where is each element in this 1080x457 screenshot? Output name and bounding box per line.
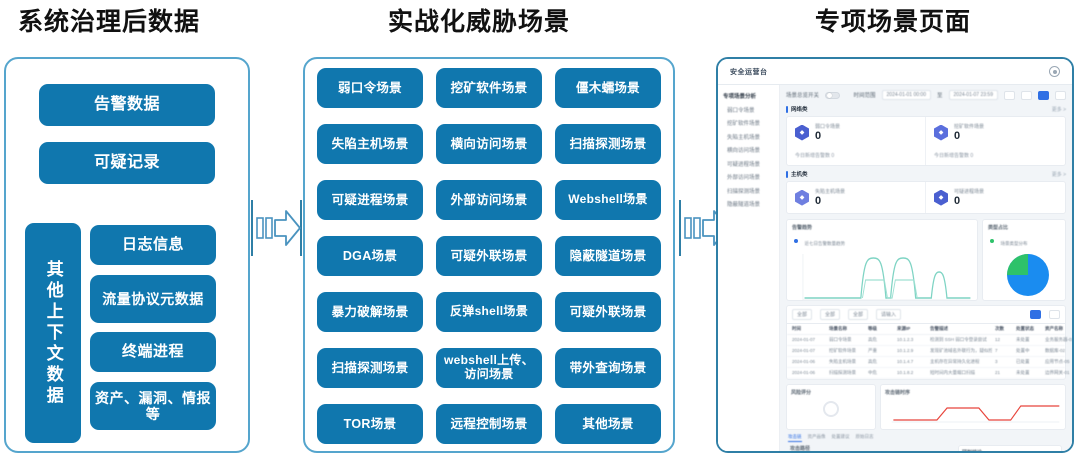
cell-count: 7 <box>995 348 1013 354</box>
filter-level[interactable]: 全部 <box>820 309 840 320</box>
tab-raw-log[interactable]: 原始日志 <box>856 434 874 442</box>
filter-asset[interactable]: 请输入 <box>876 309 901 320</box>
dashboard-body: 专项场景分析 弱口令场景 挖矿软件场景 失陷主机场景 横向访问场景 可疑进程场景… <box>718 85 1072 451</box>
context-item-asset[interactable]: 资产、漏洞、情报等 <box>90 382 216 430</box>
cell-scene: 扫描探测场景 <box>829 370 865 376</box>
group-header-host: 主机类 更多 > <box>786 170 1066 178</box>
group-more-link[interactable]: 更多 > <box>1052 106 1066 113</box>
scenario-box-2[interactable]: 僵木蠕场景 <box>555 68 661 108</box>
scenario-box-11[interactable]: 隐蔽隧道场景 <box>555 236 661 276</box>
scenario-box-5[interactable]: 扫描探测场景 <box>555 124 661 164</box>
context-data-label: 其他上下文数据 <box>25 223 81 443</box>
tab-suggestion[interactable]: 处置建议 <box>832 434 850 442</box>
th-status: 处置状态 <box>1016 326 1042 332</box>
cell-desc: 检测到 SSH 弱口令登录尝试 <box>930 337 992 343</box>
sidebar-item-3[interactable]: 失陷主机场景 <box>723 133 774 141</box>
conclusion-card: 研判结论 <box>958 445 1062 451</box>
scenario-box-3[interactable]: 失陷主机场景 <box>317 124 423 164</box>
cell-count: 21 <box>995 370 1013 376</box>
scenario-box-17[interactable]: 带外查询场景 <box>555 348 661 388</box>
group-header-network: 网络类 更多 > <box>786 105 1066 113</box>
th-level: 等级 <box>868 326 894 332</box>
cell-scene: 挖矿软件场景 <box>829 348 865 354</box>
kpi-name: 失陷主机场景 <box>815 188 845 195</box>
infographic-root: 系统治理后数据 实战化威胁场景 专项场景页面 告警数据 可疑记录 其他上下文数据… <box>0 0 1080 457</box>
kpi-card-row-network: ◆ 弱口令场景 0 今日新增告警数 0 ◆ <box>786 116 1066 166</box>
attack-chain-trend-line <box>885 396 1061 426</box>
trend-title: 攻击链时序 <box>885 389 1061 396</box>
scenario-box-10[interactable]: 可疑外联场景 <box>436 236 542 276</box>
note-title: 研判结论 <box>962 449 1058 451</box>
table-reset-button[interactable] <box>1049 310 1060 319</box>
scenario-box-12[interactable]: 暴力破解场景 <box>317 292 423 332</box>
cell-srcip: 10.1.4.7 <box>897 359 927 365</box>
alert-table: 时间 场景名称 等级 来源IP 告警描述 次数 处置状态 资产名称 操作 202… <box>786 323 1066 380</box>
threat-scenario-grid: 弱口令场景挖矿软件场景僵木蠕场景失陷主机场景横向访问场景扫描探测场景可疑进程场景… <box>317 68 661 444</box>
kpi-card[interactable]: ◆ 弱口令场景 0 今日新增告警数 0 <box>787 117 926 165</box>
kpi-subtext: 今日新增告警数 0 <box>934 152 1057 159</box>
dashboard-logo: 安全运营台 <box>730 67 768 77</box>
tab-asset-profile[interactable]: 资产画像 <box>808 434 826 442</box>
cell-level: 严重 <box>868 348 894 354</box>
right-panel-container: 安全运营台 专项场景分析 弱口令场景 挖矿软件场景 失陷主机场景 横向访问场景 … <box>716 57 1074 453</box>
sidebar-item-6[interactable]: 外部访问场景 <box>723 173 774 181</box>
cell-asset: 业务服务器-01 <box>1045 337 1072 343</box>
cell-asset: 数据库-02 <box>1045 348 1072 354</box>
pie-chart-legend: 场景类型分布 <box>1000 241 1027 246</box>
date-start-input[interactable]: 2024-01-01 00:00 <box>882 90 931 100</box>
page-title-middle: 实战化威胁场景 <box>388 10 570 35</box>
scenario-box-6[interactable]: 可疑进程场景 <box>317 180 423 220</box>
scenario-box-1[interactable]: 挖矿软件场景 <box>436 68 542 108</box>
line-chart-card: 告警趋势 近七日告警数量趋势 <box>786 219 978 301</box>
cell-status: 处置中 <box>1016 348 1042 354</box>
table-header-row: 时间 场景名称 等级 来源IP 告警描述 次数 处置状态 资产名称 操作 <box>787 324 1065 335</box>
proc-hex-icon: ◆ <box>934 190 948 206</box>
dashboard-toolbar: 场景总览开关 时间范围 2024-01-01 00:00 至 2024-01-0… <box>786 90 1066 100</box>
scenario-box-7[interactable]: 外部访问场景 <box>436 180 542 220</box>
detail-tabs: 攻击链 资产画像 处置建议 原始日志 <box>786 434 1066 442</box>
group-accent-bar <box>786 171 788 178</box>
risk-gauge-card: 风险评分 <box>786 384 876 430</box>
cell-level: 高危 <box>868 359 894 365</box>
scenario-box-18[interactable]: TOR场景 <box>317 404 423 444</box>
sidebar-item-5[interactable]: 可疑进程场景 <box>723 160 774 168</box>
context-item-endpoint[interactable]: 终端进程 <box>90 332 216 372</box>
cell-scene: 弱口令场景 <box>829 337 865 343</box>
cell-srcip: 10.1.2.3 <box>897 337 927 343</box>
kpi-card[interactable]: ◆ 可疑进程场景 0 <box>926 182 1065 213</box>
context-item-log[interactable]: 日志信息 <box>90 225 216 265</box>
th-count: 次数 <box>995 326 1013 332</box>
sidebar-item-8[interactable]: 隐蔽隧道场景 <box>723 200 774 208</box>
th-desc: 告警描述 <box>930 326 992 332</box>
attack-trend-card: 攻击链时序 <box>880 384 1066 430</box>
scenario-box-14[interactable]: 可疑外联场景 <box>555 292 661 332</box>
table-row[interactable]: 2024-01-06 失陷主机场景 高危 10.1.4.7 主机存在异常持久化进… <box>787 357 1065 368</box>
dashboard-main: 场景总览开关 时间范围 2024-01-01 00:00 至 2024-01-0… <box>780 85 1072 451</box>
toggle-label: 场景总览开关 <box>786 91 819 99</box>
line-chart-title: 告警趋势 <box>792 224 972 231</box>
cell-srcip: 10.1.2.9 <box>897 348 927 354</box>
cell-time: 2024-01-06 <box>792 359 826 365</box>
cell-time: 2024-01-07 <box>792 337 826 343</box>
th-asset: 资产名称 <box>1045 326 1072 332</box>
dashboard-screenshot: 安全运营台 专项场景分析 弱口令场景 挖矿软件场景 失陷主机场景 横向访问场景 … <box>718 59 1072 451</box>
kpi-value: 0 <box>954 195 984 207</box>
sidebar-item-4[interactable]: 横向访问场景 <box>723 146 774 154</box>
th-time: 时间 <box>792 326 826 332</box>
host-hex-icon: ◆ <box>795 190 809 206</box>
th-scene: 场景名称 <box>829 326 865 332</box>
date-end-input[interactable]: 2024-01-07 23:59 <box>949 90 998 100</box>
cell-srcip: 10.1.8.2 <box>897 370 927 376</box>
data-box-suspicious-record[interactable]: 可疑记录 <box>39 142 215 184</box>
kpi-card[interactable]: ◆ 失陷主机场景 0 <box>787 182 926 213</box>
sidebar-item-2[interactable]: 挖矿软件场景 <box>723 119 774 127</box>
group-title: 主机类 <box>791 170 808 178</box>
page-title-right: 专项场景页面 <box>815 10 971 35</box>
kpi-name: 可疑进程场景 <box>954 188 984 195</box>
cell-level: 高危 <box>868 337 894 343</box>
cell-asset: 边界网关-01 <box>1045 370 1072 376</box>
cell-asset: 应用节点-05 <box>1045 359 1072 365</box>
cell-time: 2024-01-06 <box>792 370 826 376</box>
group-more-link[interactable]: 更多 > <box>1052 171 1066 178</box>
shield-hex-icon: ◆ <box>795 125 809 141</box>
table-search-button[interactable] <box>1030 310 1041 319</box>
sidebar-item-root[interactable]: 专项场景分析 <box>723 92 774 100</box>
kpi-value: 0 <box>815 130 840 142</box>
grid-view-icon[interactable] <box>1038 91 1049 100</box>
refresh-icon[interactable] <box>1004 91 1015 100</box>
kpi-name: 挖矿软件场景 <box>954 123 984 130</box>
export-icon[interactable] <box>1021 91 1032 100</box>
scenario-box-15[interactable]: 扫描探测场景 <box>317 348 423 388</box>
cell-count: 12 <box>995 337 1013 343</box>
cell-level: 中危 <box>868 370 894 376</box>
scenario-box-8[interactable]: Webshell场景 <box>555 180 661 220</box>
cell-time: 2024-01-07 <box>792 348 826 354</box>
sidebar-item-7[interactable]: 扫描探测场景 <box>723 187 774 195</box>
alert-trend-line <box>792 250 972 306</box>
filter-scenario[interactable]: 全部 <box>792 309 812 320</box>
cell-desc: 主机存在异常持久化进程 <box>930 359 992 365</box>
cell-desc: 短时间内大量端口扫描 <box>930 370 992 376</box>
kpi-value: 0 <box>815 195 845 207</box>
risk-gauge-icon <box>823 401 839 417</box>
table-row[interactable]: 2024-01-07 挖矿软件场景 严重 10.1.2.9 发现矿池域名外联行为… <box>787 346 1065 357</box>
tab-attack-chain[interactable]: 攻击链 <box>788 434 802 442</box>
scenario-box-19[interactable]: 远程控制场景 <box>436 404 542 444</box>
gauge-label: 风险评分 <box>791 389 871 396</box>
page-title-left: 系统治理后数据 <box>18 10 200 35</box>
kpi-card-row-host: ◆ 失陷主机场景 0 ◆ 可疑进程场景 <box>786 181 1066 214</box>
sidebar-item-1[interactable]: 弱口令场景 <box>723 106 774 114</box>
cell-status: 未处置 <box>1016 337 1042 343</box>
list-view-icon[interactable] <box>1055 91 1066 100</box>
user-avatar-icon[interactable] <box>1049 66 1060 77</box>
flow-arrow-1 <box>248 200 306 261</box>
cell-desc: 发现矿池域名外联行为，疑似挖矿 <box>930 348 992 354</box>
charts-row: 告警趋势 近七日告警数量趋势 <box>786 219 1066 301</box>
cell-count: 3 <box>995 359 1013 365</box>
scenario-box-0[interactable]: 弱口令场景 <box>317 68 423 108</box>
dashboard-topbar: 安全运营台 <box>718 59 1072 85</box>
table-row[interactable]: 2024-01-06 扫描探测场景 中危 10.1.8.2 短时间内大量端口扫描… <box>787 368 1065 379</box>
detail-row: 风险评分 攻击链时序 <box>786 384 1066 430</box>
cell-scene: 失陷主机场景 <box>829 359 865 365</box>
kpi-name: 弱口令场景 <box>815 123 840 130</box>
overview-toggle[interactable] <box>825 92 840 99</box>
filter-status[interactable]: 全部 <box>848 309 868 320</box>
cell-status: 未处置 <box>1016 370 1042 376</box>
scenario-box-16[interactable]: webshell上传、访问场景 <box>436 348 542 388</box>
legend-marker <box>990 239 994 243</box>
scenario-box-9[interactable]: DGA场景 <box>317 236 423 276</box>
line-chart-legend: 近七日告警数量趋势 <box>804 241 845 246</box>
scenario-box-13[interactable]: 反弹shell场景 <box>436 292 542 332</box>
kpi-card[interactable]: ◆ 挖矿软件场景 0 今日新增告警数 0 <box>926 117 1065 165</box>
group-title: 网络类 <box>791 105 808 113</box>
dashboard-sidebar: 专项场景分析 弱口令场景 挖矿软件场景 失陷主机场景 横向访问场景 可疑进程场景… <box>718 85 780 451</box>
group-accent-bar <box>786 106 788 113</box>
data-box-alert[interactable]: 告警数据 <box>39 84 215 126</box>
scenario-box-4[interactable]: 横向访问场景 <box>436 124 542 164</box>
cell-status: 已处置 <box>1016 359 1042 365</box>
scenario-type-pie <box>988 250 1062 300</box>
range-label: 时间范围 <box>854 91 876 99</box>
legend-marker <box>794 239 798 243</box>
pie-chart-card: 类型占比 场景类型分布 <box>982 219 1066 301</box>
kpi-value: 0 <box>954 130 984 142</box>
th-srcip: 来源IP <box>897 326 927 332</box>
pie-chart-title: 类型占比 <box>988 224 1060 231</box>
scenario-box-20[interactable]: 其他场景 <box>555 404 661 444</box>
context-item-traffic[interactable]: 流量协议元数据 <box>90 275 216 323</box>
kpi-subtext: 今日新增告警数 0 <box>795 152 917 159</box>
table-row[interactable]: 2024-01-07 弱口令场景 高危 10.1.2.3 检测到 SSH 弱口令… <box>787 335 1065 346</box>
date-separator: 至 <box>937 91 943 99</box>
bug-hex-icon: ◆ <box>934 125 948 141</box>
